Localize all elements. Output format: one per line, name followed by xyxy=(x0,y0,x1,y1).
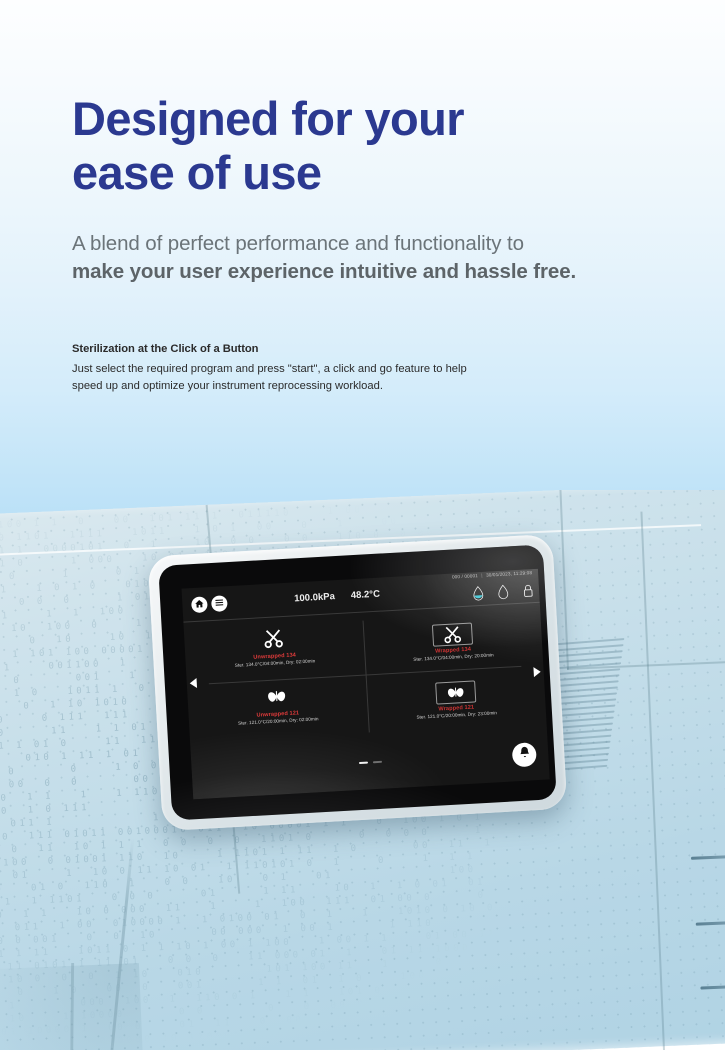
headline-line-2: ease of use xyxy=(72,146,652,200)
page-dot-2[interactable] xyxy=(372,761,381,763)
feature-title: Sterilization at the Click of a Button xyxy=(72,343,592,355)
feature-body: Just select the required program and pre… xyxy=(72,361,592,395)
temperature-reading: 48.2°C xyxy=(351,589,381,602)
water-drop-filled-icon[interactable] xyxy=(472,586,485,607)
grid-divider-vertical xyxy=(362,621,369,733)
program-tile-unwrapped-134[interactable]: Unwrapped 134 Ster. 134.0°C/04:00min, Dr… xyxy=(191,621,357,670)
program-tile-wrapped-134[interactable]: Wrapped 134 Ster. 134.0°C/04:00min, Dry:… xyxy=(370,619,536,664)
scissors-icon xyxy=(432,623,473,647)
meta-separator: | xyxy=(481,573,483,578)
alarm-button[interactable] xyxy=(512,742,537,767)
cycle-counter: 000 / 00001 xyxy=(452,573,478,579)
timestamp: 30/01/2023, 11:29:08 xyxy=(486,570,532,578)
page-title: Designed for your ease of use xyxy=(72,92,652,200)
display-screen[interactable]: 100.0kPa 48.2°C 000 / 00001 | 30/01/2023… xyxy=(181,569,549,800)
subhead-line-2: make your user experience intuitive and … xyxy=(72,258,652,286)
program-tile-wrapped-121[interactable]: Wrapped 121 Ster. 121.0°C/20:00min, Dry:… xyxy=(373,677,539,722)
cycle-meta: 000 / 00001 | 30/01/2023, 11:29:08 xyxy=(452,570,532,579)
page-dot-1[interactable] xyxy=(358,762,367,764)
feature-body-line-2: speed up and optimize your instrument re… xyxy=(72,378,592,395)
arrow-left-icon[interactable] xyxy=(190,678,198,688)
page-indicator[interactable] xyxy=(358,761,381,764)
chamber-door-curve xyxy=(69,963,191,1050)
feature-block: Sterilization at the Click of a Button J… xyxy=(72,343,592,395)
display-glass[interactable]: 100.0kPa 48.2°C 000 / 00001 | 30/01/2023… xyxy=(158,544,557,820)
home-button[interactable] xyxy=(191,596,208,613)
hamburger-menu-icon xyxy=(214,594,225,613)
program-tile-unwrapped-121[interactable]: Unwrapped 121 Ster. 121.0°C/20:00min, Dr… xyxy=(194,679,360,728)
water-drop-outline-icon[interactable] xyxy=(497,584,510,605)
arrow-right-icon[interactable] xyxy=(533,667,541,677)
bell-icon xyxy=(517,745,531,764)
screen-bottom-bar xyxy=(191,739,549,793)
padlock-icon[interactable] xyxy=(522,583,535,604)
display-bezel: 100.0kPa 48.2°C 000 / 00001 | 30/01/2023… xyxy=(148,534,568,831)
hero-copy-block: Designed for your ease of use A blend of… xyxy=(72,92,652,286)
feature-body-line-1: Just select the required program and pre… xyxy=(72,361,592,378)
tank-status-icons xyxy=(472,583,535,606)
subhead-line-1: A blend of perfect performance and funct… xyxy=(72,232,524,255)
pressure-reading: 100.0kPa xyxy=(294,591,335,604)
program-grid: Unwrapped 134 Ster. 134.0°C/04:00min, Dr… xyxy=(184,607,547,747)
butterfly-icon xyxy=(435,680,476,704)
touchscreen-display-unit: 100.0kPa 48.2°C 000 / 00001 | 30/01/2023… xyxy=(148,534,568,831)
headline-line-1: Designed for your xyxy=(72,92,652,146)
home-icon xyxy=(194,595,205,614)
hero-subheading: A blend of perfect performance and funct… xyxy=(72,230,652,286)
menu-button[interactable] xyxy=(211,595,228,612)
sensor-readings: 100.0kPa 48.2°C xyxy=(294,589,380,605)
